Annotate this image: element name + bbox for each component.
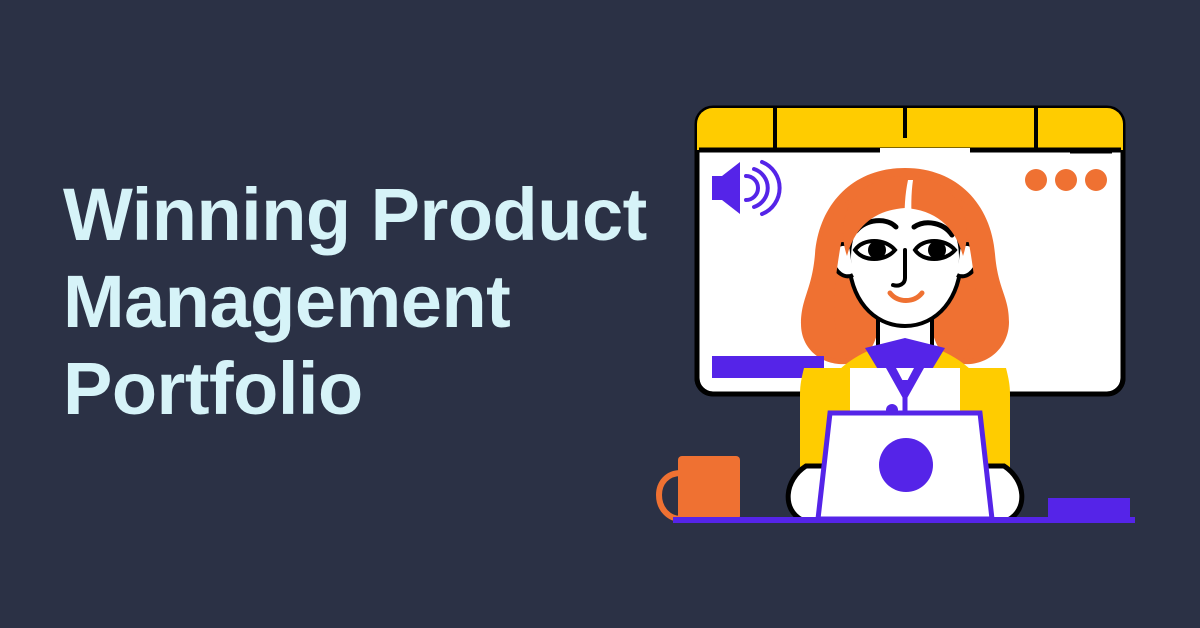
pupil-right <box>928 241 946 259</box>
coffee-mug[interactable] <box>659 456 740 520</box>
dot-3 <box>1085 169 1107 191</box>
hero-illustration <box>650 80 1160 550</box>
laptop-screen-dot <box>879 438 933 492</box>
headline-line-2: Management <box>63 258 663 345</box>
mug-body <box>678 456 740 520</box>
banner-canvas: Winning Product Management Portfolio <box>0 0 1200 628</box>
three-orange-dots[interactable] <box>1025 169 1107 191</box>
notebook-block[interactable] <box>1048 498 1130 520</box>
dot-1 <box>1025 169 1047 191</box>
window-header-bar <box>697 108 1123 150</box>
pupil-left <box>868 241 886 259</box>
mug-handle <box>659 473 681 519</box>
dot-2 <box>1055 169 1077 191</box>
desk-line <box>673 517 1135 523</box>
page-title: Winning Product Management Portfolio <box>63 171 663 432</box>
headline-line-1: Winning Product <box>63 171 663 258</box>
headline-line-3: Portfolio <box>63 345 663 432</box>
laptop[interactable] <box>818 413 992 519</box>
